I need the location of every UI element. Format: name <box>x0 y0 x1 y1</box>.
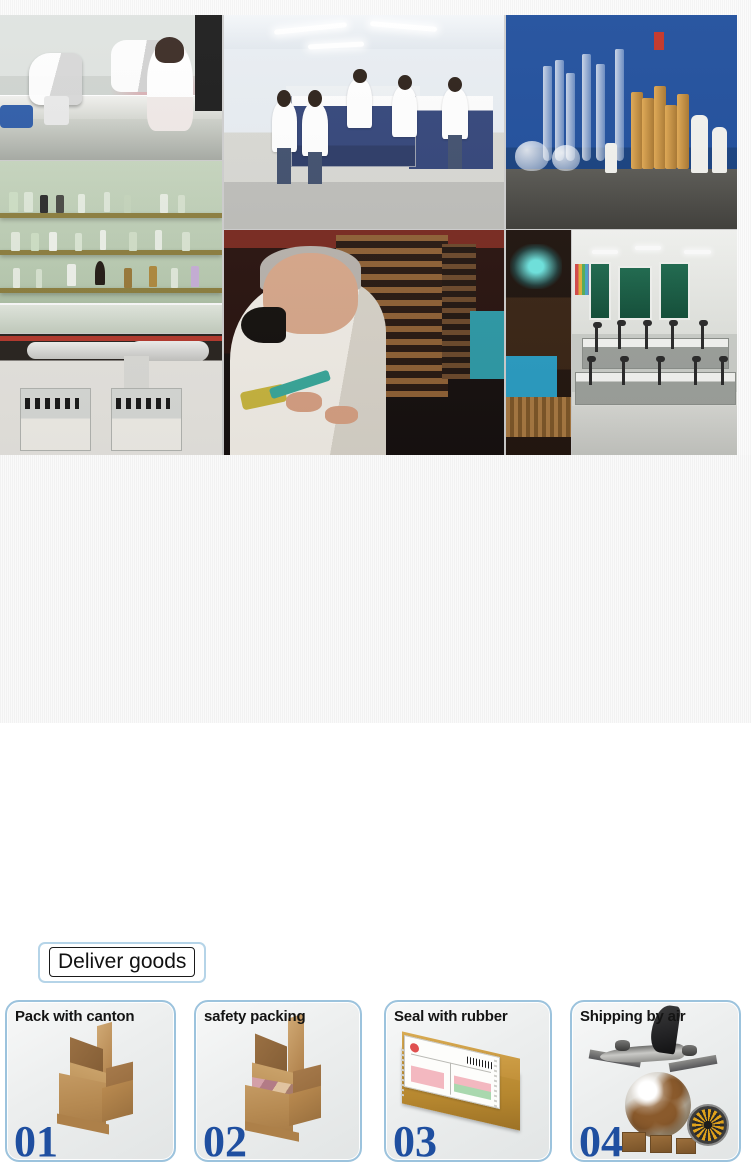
packing-step-card-01: Pack with canton 01 <box>5 1000 176 1162</box>
deliver-goods-badge: Deliver goods <box>38 942 206 983</box>
photo-reagent-shelves <box>0 161 222 333</box>
packing-step-card-02: safety packing 02 <box>194 1000 362 1162</box>
packing-step-number: 02 <box>203 1120 247 1162</box>
photo-teaching-laboratory <box>572 230 737 455</box>
deliver-goods-badge-label: Deliver goods <box>49 947 195 977</box>
photo-engineer-microscope <box>224 230 504 455</box>
packing-step-caption: safety packing <box>204 1008 305 1025</box>
photo-fume-hoods <box>0 334 222 455</box>
packing-step-caption: Seal with rubber <box>394 1008 508 1025</box>
packing-step-card-03: Seal with rubber 03 <box>384 1000 552 1162</box>
packing-step-card-04: Shipping by air 04 <box>570 1000 741 1162</box>
packing-step-number: 03 <box>393 1120 437 1162</box>
photo-dark-workshop <box>506 230 571 455</box>
photo-microscope-lab <box>0 15 222 160</box>
photo-glassware-blue-backdrop <box>506 15 737 229</box>
photo-lab-staff <box>224 15 504 229</box>
packing-step-number: 01 <box>14 1120 58 1162</box>
laboratory-photo-collage <box>0 15 737 455</box>
packing-step-caption: Shipping by air <box>580 1008 685 1025</box>
deliver-goods-section: Deliver goods Pack with canton 01 safety… <box>0 455 751 723</box>
packing-step-caption: Pack with canton <box>15 1008 134 1025</box>
packing-step-number: 04 <box>579 1120 623 1162</box>
